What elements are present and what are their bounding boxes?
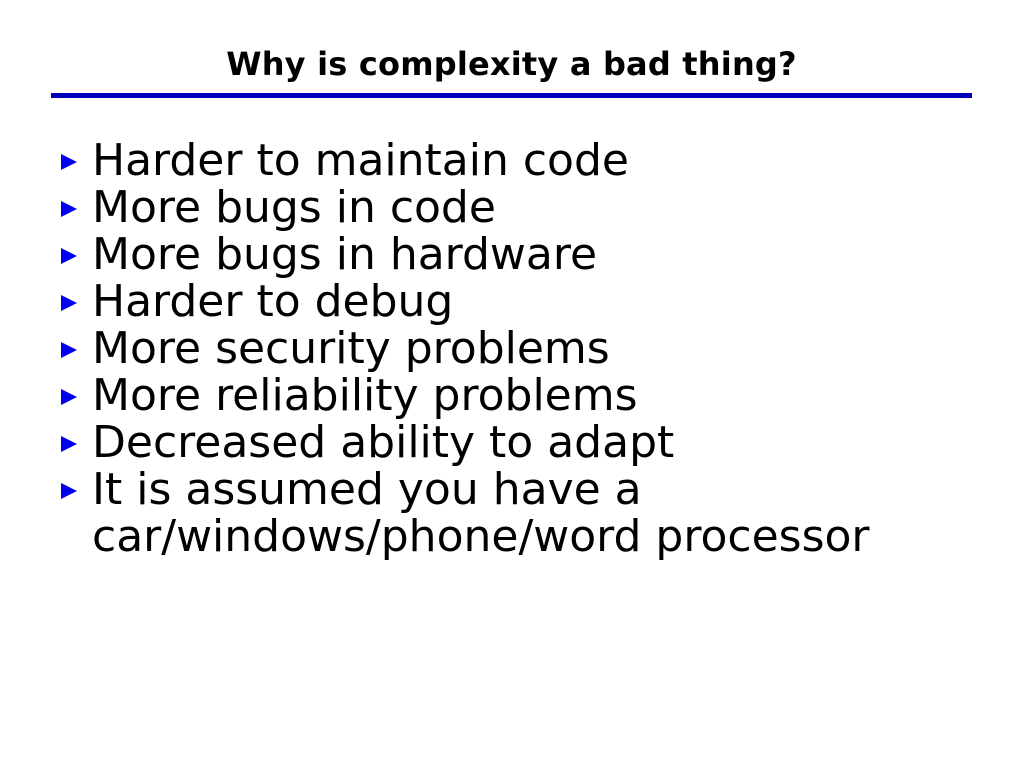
title-underline-rule xyxy=(51,93,972,98)
list-item-label: Harder to debug xyxy=(92,278,988,325)
triangle-right-icon xyxy=(58,231,80,278)
list-item-label: It is assumed you have a car/windows/pho… xyxy=(92,466,988,560)
bullet-list: Harder to maintain code More bugs in cod… xyxy=(58,137,988,560)
triangle-right-icon xyxy=(58,372,80,419)
triangle-right-icon xyxy=(58,325,80,372)
list-item-label-line-2: car/windows/phone/word processor xyxy=(92,513,988,560)
list-item: More bugs in hardware xyxy=(58,231,988,278)
list-item: More bugs in code xyxy=(58,184,988,231)
list-item: It is assumed you have a car/windows/pho… xyxy=(58,466,988,560)
list-item-label: More security problems xyxy=(92,325,988,372)
list-item-label: More reliability problems xyxy=(92,372,988,419)
list-item: More security problems xyxy=(58,325,988,372)
list-item-label: More bugs in hardware xyxy=(92,231,988,278)
triangle-right-icon xyxy=(58,184,80,231)
slide-canvas: Why is complexity a bad thing? Harder to… xyxy=(0,0,1024,768)
list-item-label: More bugs in code xyxy=(92,184,988,231)
triangle-right-icon xyxy=(58,419,80,466)
list-item: Decreased ability to adapt xyxy=(58,419,988,466)
list-item-label: Decreased ability to adapt xyxy=(92,419,988,466)
triangle-right-icon xyxy=(58,137,80,184)
triangle-right-icon xyxy=(58,466,80,513)
title-block: Why is complexity a bad thing? xyxy=(51,44,972,84)
triangle-right-icon xyxy=(58,278,80,325)
list-item: Harder to debug xyxy=(58,278,988,325)
list-item: More reliability problems xyxy=(58,372,988,419)
page-title: Why is complexity a bad thing? xyxy=(51,44,972,84)
list-item-label: Harder to maintain code xyxy=(92,137,988,184)
list-item: Harder to maintain code xyxy=(58,137,988,184)
list-item-label-line-1: It is assumed you have a xyxy=(92,466,988,513)
